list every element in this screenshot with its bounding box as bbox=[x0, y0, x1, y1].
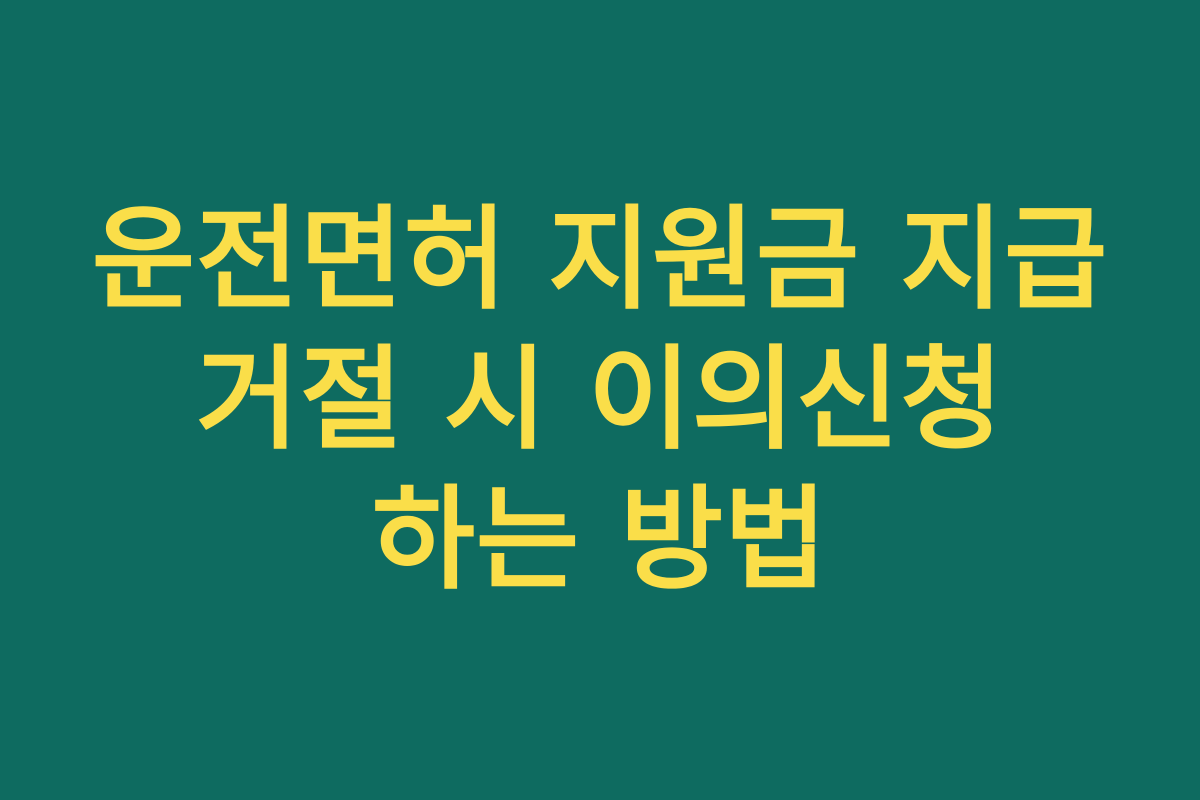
banner-card: 운전면허 지원금 지급 거절 시 이의신청 하는 방법 bbox=[0, 0, 1200, 800]
headline-block: 운전면허 지원금 지급 거절 시 이의신청 하는 방법 bbox=[80, 190, 1120, 610]
page-title: 운전면허 지원금 지급 거절 시 이의신청 하는 방법 bbox=[80, 190, 1120, 610]
